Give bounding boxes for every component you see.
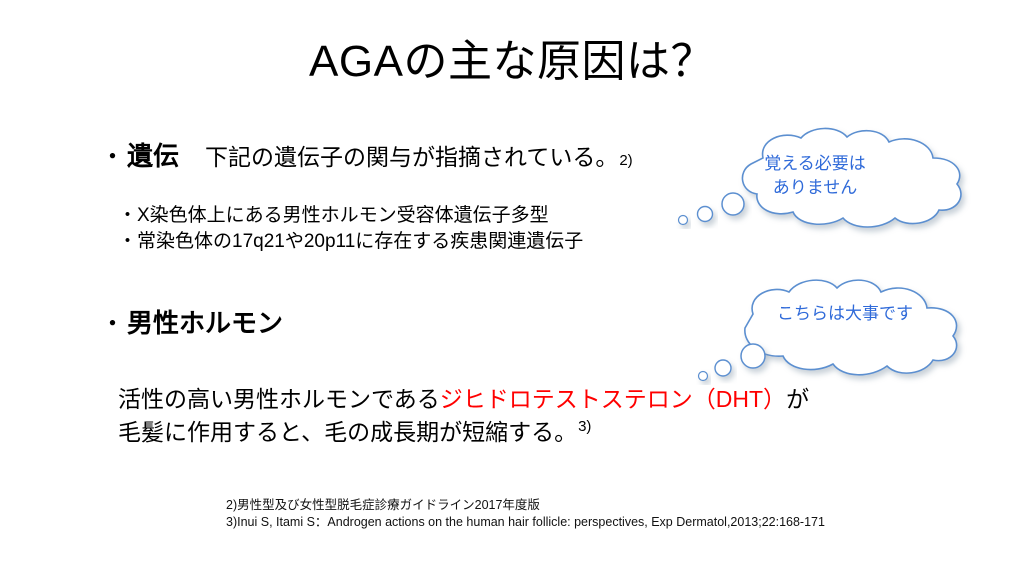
section-heading-androgen: ・ 男性ホルモン xyxy=(100,306,283,340)
paragraph-text-before-highlight: 活性の高い男性ホルモンである xyxy=(118,386,440,412)
paragraph-line-2-text: 毛髪に作用すると、毛の成長期が短縮する。 xyxy=(118,419,577,445)
highlighted-term-dht: ジヒドロテストステロン（DHT） xyxy=(440,386,786,412)
thought-bubble-memorize xyxy=(655,128,975,236)
section-title-androgen: 男性ホルモン xyxy=(127,306,283,340)
bullet-mark-icon: ・ xyxy=(100,141,125,173)
footnote-item: 2)男性型及び女性型脱毛症診療ガイドライン2017年度版 xyxy=(226,497,825,514)
footnote-item: 3)Inui S, Itami S：Androgen actions on th… xyxy=(226,514,825,531)
paragraph-line-1: 活性の高い男性ホルモンであるジヒドロテストステロン（DHT）が xyxy=(118,383,809,416)
list-item: ・常染色体の17q21や20p11に存在する疾患関連遺伝子 xyxy=(118,229,583,255)
paragraph-text-after-highlight: が xyxy=(786,386,809,412)
bullet-mark-icon: ・ xyxy=(100,308,125,340)
list-item: ・X染色体上にある男性ホルモン受容体遺伝子多型 xyxy=(118,203,583,229)
slide-canvas: AGAの主な原因は？ ・ 遺伝 下記の遺伝子の関与が指摘されている。 2) ・X… xyxy=(0,0,1024,576)
cloud-shape xyxy=(742,128,961,227)
reference-marker-3: 3) xyxy=(578,418,591,435)
slide-body: ・ 遺伝 下記の遺伝子の関与が指摘されている。 2) ・X染色体上にある男性ホル… xyxy=(0,0,1024,576)
thought-trail-icon xyxy=(679,193,745,225)
thought-bubble-important xyxy=(695,278,1005,386)
section-title-genetics: 遺伝 xyxy=(127,140,179,172)
paragraph-line-2: 毛髪に作用すると、毛の成長期が短縮する。3) xyxy=(118,416,809,449)
section-description-genetics: 下記の遺伝子の関与が指摘されている。 xyxy=(205,141,618,173)
footnote-list: 2)男性型及び女性型脱毛症診療ガイドライン2017年度版 3)Inui S, I… xyxy=(226,497,825,531)
cloud-shape xyxy=(745,280,957,375)
androgen-paragraph: 活性の高い男性ホルモンであるジヒドロテストステロン（DHT）が 毛髪に作用すると… xyxy=(118,383,809,449)
genetics-sub-list: ・X染色体上にある男性ホルモン受容体遺伝子多型 ・常染色体の17q21や20p1… xyxy=(118,203,583,255)
reference-marker-2: 2) xyxy=(619,153,632,168)
section-heading-genetics: ・ 遺伝 下記の遺伝子の関与が指摘されている。 2) xyxy=(100,140,633,173)
thought-trail-icon xyxy=(699,344,766,381)
